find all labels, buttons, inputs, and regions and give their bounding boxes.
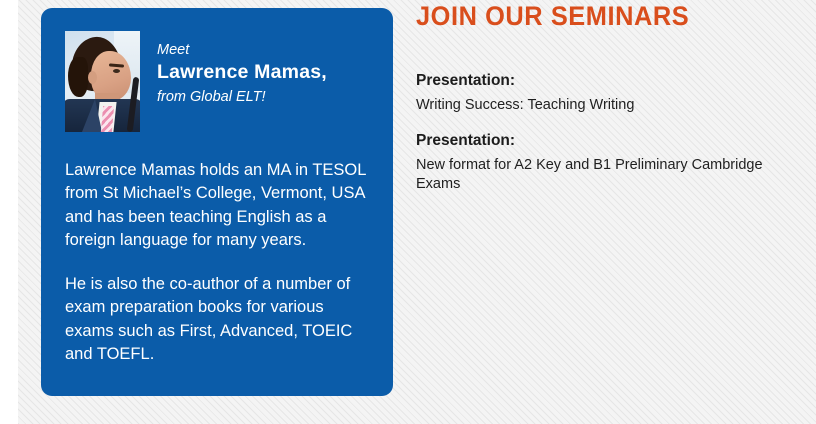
- seminar-list-item: Presentation: Writing Success: Teaching …: [416, 72, 796, 115]
- seminar-label: Presentation:: [416, 72, 796, 91]
- seminar-topic: Writing Success: Teaching Writing: [416, 96, 784, 115]
- seminar-label: Presentation:: [416, 132, 796, 151]
- meet-label: Meet: [157, 42, 327, 59]
- speaker-name-block: Meet Lawrence Mamas, from Global ELT!: [157, 31, 327, 106]
- seminars-panel: JOIN OUR SEMINARS Presentation: Writing …: [416, 0, 796, 194]
- seminar-list: Presentation: Writing Success: Teaching …: [416, 72, 796, 194]
- speaker-portrait-photo: [65, 31, 140, 132]
- left-white-gutter: [0, 0, 18, 424]
- portrait-hair-side: [68, 57, 88, 97]
- seminar-list-item: Presentation: New format for A2 Key and …: [416, 132, 796, 194]
- speaker-organization: from Global ELT!: [157, 89, 327, 106]
- speaker-bio-paragraph-1: Lawrence Mamas holds an MA in TESOL from…: [65, 159, 370, 253]
- speaker-biography: Lawrence Mamas holds an MA in TESOL from…: [65, 159, 370, 366]
- portrait-eye: [113, 69, 120, 73]
- portrait-striped-tie: [101, 106, 114, 132]
- slide-canvas: Meet Lawrence Mamas, from Global ELT! La…: [0, 0, 816, 424]
- speaker-name: Lawrence Mamas,: [157, 61, 327, 84]
- speaker-card: Meet Lawrence Mamas, from Global ELT! La…: [41, 8, 393, 396]
- speaker-bio-paragraph-2: He is also the co-author of a number of …: [65, 273, 370, 367]
- speaker-header: Meet Lawrence Mamas, from Global ELT!: [65, 31, 370, 132]
- seminar-topic: New format for A2 Key and B1 Preliminary…: [416, 156, 784, 193]
- seminars-heading: JOIN OUR SEMINARS: [416, 0, 773, 32]
- portrait-lapel: [82, 99, 102, 132]
- portrait-ear: [88, 71, 97, 84]
